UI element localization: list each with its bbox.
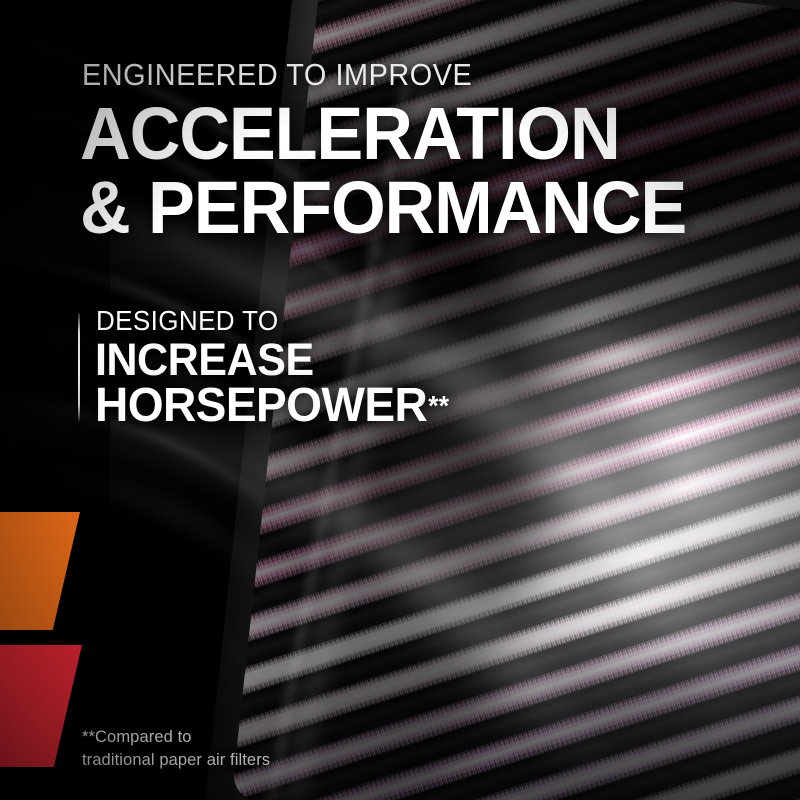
footnote-text: **Compared to traditional paper air filt…: [82, 726, 270, 773]
subhead-footnote-marker: **: [428, 390, 449, 421]
subhead-line-2-group: HORSEPOWER**: [95, 378, 449, 433]
subhead-eyebrow: DESIGNED TO: [96, 305, 279, 337]
subhead-line-2: HORSEPOWER: [95, 379, 427, 432]
marketing-copy: ENGINEERED TO IMPROVE ACCELERATION & PER…: [0, 0, 800, 800]
marketing-banner: ENGINEERED TO IMPROVE ACCELERATION & PER…: [0, 0, 800, 800]
footnote-line-2: traditional paper air filters: [82, 749, 270, 772]
headline-eyebrow: ENGINEERED TO IMPROVE: [82, 57, 472, 93]
headline-line-1: ACCELERATION: [80, 98, 620, 169]
footnote-line-1: **Compared to: [82, 726, 270, 749]
subhead-line-1: INCREASE: [95, 337, 314, 382]
headline-line-2: & PERFORMANCE: [80, 172, 686, 243]
subhead-divider-rule: [78, 313, 80, 421]
